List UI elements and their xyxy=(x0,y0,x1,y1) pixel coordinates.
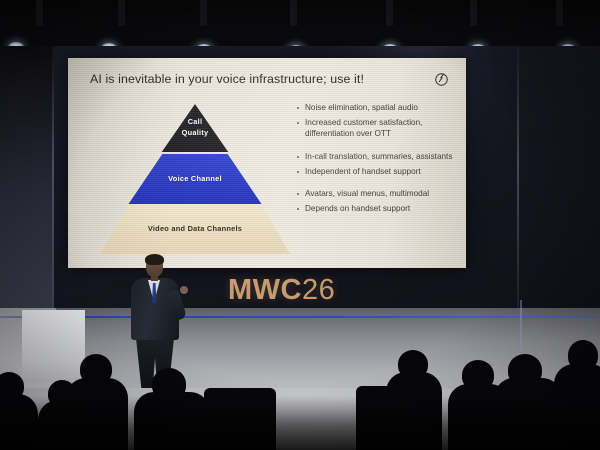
ceiling-truss xyxy=(386,0,393,26)
pyramid-tier-label: Call Quality xyxy=(182,117,209,138)
bullet-group-call-quality: Noise elimination, spatial audio Increas… xyxy=(296,102,454,140)
slide-bullet-list: Noise elimination, spatial audio Increas… xyxy=(296,102,454,214)
stage-accent-line xyxy=(0,316,600,318)
audience-member xyxy=(66,378,128,450)
bullet-item: Increased customer satisfaction, differe… xyxy=(296,117,454,140)
pyramid-diagram: Call Quality Voice Channel Video and Dat… xyxy=(100,104,290,244)
led-wall-left-panel xyxy=(0,46,54,308)
pyramid-tier-label: Video and Data Channels xyxy=(148,224,242,235)
pyramid-tier-voice-channel: Voice Channel xyxy=(100,154,290,204)
ceiling-truss xyxy=(290,0,297,26)
bullet-item: Avatars, visual menus, multimodal xyxy=(296,188,454,200)
audience-silhouettes xyxy=(0,340,600,450)
mwc-branding-light: 26 xyxy=(302,274,335,306)
pyramid-tier-label-line1: Call xyxy=(188,117,203,126)
ceiling-truss xyxy=(36,0,43,26)
presentation-slide: AI is inevitable in your voice infrastru… xyxy=(68,58,466,268)
slide-title: AI is inevitable in your voice infrastru… xyxy=(90,72,420,86)
audience-chair xyxy=(356,386,418,450)
audience-member xyxy=(554,364,600,450)
pyramid-tier-label-line2: Quality xyxy=(182,128,209,137)
pyramid-tier-video-and-data-channels: Video and Data Channels xyxy=(100,205,290,254)
ceiling-truss xyxy=(556,0,563,26)
mwc-branding-bold: MWC xyxy=(228,274,302,306)
presenter-hair xyxy=(145,254,164,265)
bullet-group-video-and-data-channels: Avatars, visual menus, multimodal Depend… xyxy=(296,188,454,214)
led-wall-seam xyxy=(517,46,519,308)
ceiling-truss xyxy=(200,0,207,26)
ceiling-truss xyxy=(118,0,125,26)
presenter-hand xyxy=(180,286,188,294)
bullet-item: Noise elimination, spatial audio xyxy=(296,102,454,114)
mwc-branding: MWC26 xyxy=(228,274,335,307)
audience-member xyxy=(494,378,562,450)
bullet-item: In-call translation, summaries, assistan… xyxy=(296,151,454,163)
audience-member xyxy=(134,392,210,450)
bullet-item: Independent of handset support xyxy=(296,166,454,178)
audience-chair xyxy=(204,388,276,450)
led-wall-seam xyxy=(52,46,54,308)
audience-member xyxy=(0,394,38,450)
conference-stage-photo: AI is inevitable in your voice infrastru… xyxy=(0,0,600,450)
pyramid-tier-label: Voice Channel xyxy=(168,174,222,185)
bullet-item: Depends on handset support xyxy=(296,203,454,215)
bullet-group-voice-channel: In-call translation, summaries, assistan… xyxy=(296,151,454,177)
ceiling-truss xyxy=(470,0,477,26)
circle-slash-logo-icon xyxy=(434,72,449,87)
pyramid-tier-call-quality: Call Quality xyxy=(100,104,290,152)
